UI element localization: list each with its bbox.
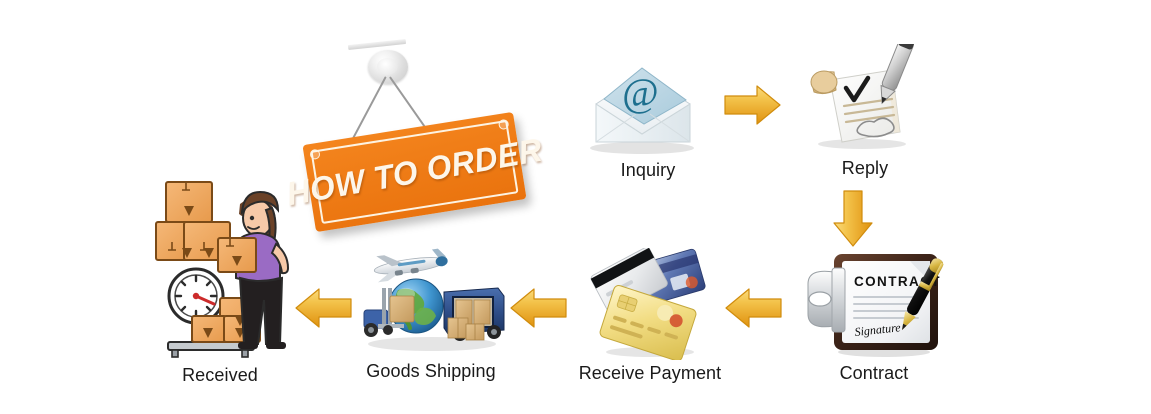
- reply-icon: [800, 44, 930, 154]
- how-to-order-sign: HOW TO ORDER: [302, 112, 526, 232]
- inquiry-icon: @: [578, 52, 718, 157]
- globe-plane-truck-icon: [348, 244, 516, 356]
- step-label-reply: Reply: [800, 159, 930, 177]
- sign-text: HOW TO ORDER: [306, 111, 523, 233]
- arrow-payment-to-shipping: [507, 285, 569, 336]
- step-label-received: Received: [140, 366, 300, 384]
- envelope-at-icon: @: [578, 52, 718, 157]
- contract-clipboard-icon: CONTRACT Signature: [800, 248, 948, 358]
- received-icon: [152, 174, 292, 360]
- arrow-left-icon: [292, 285, 354, 331]
- hook-mount-icon: [368, 50, 408, 84]
- receive-payment-icon: [580, 248, 720, 360]
- credit-cards-icon: [580, 248, 720, 360]
- arrow-left-icon: [722, 285, 784, 331]
- arrow-inquiry-to-reply: [722, 82, 784, 133]
- step-label-goods-shipping: Goods Shipping: [345, 362, 517, 380]
- arrow-down-icon: [830, 188, 876, 250]
- arrow-contract-to-payment: [722, 285, 784, 336]
- contract-icon: CONTRACT Signature: [800, 248, 948, 358]
- arrow-left-icon: [507, 285, 569, 331]
- svg-text:@: @: [621, 69, 660, 116]
- arrow-right-icon: [722, 82, 784, 128]
- step-label-receive-payment: Receive Payment: [570, 364, 730, 382]
- goods-shipping-icon: [348, 244, 516, 356]
- arrow-reply-to-contract: [830, 188, 876, 255]
- scroll-pen-icon: [800, 44, 930, 154]
- warehouse-worker-icon: [152, 174, 292, 360]
- arrow-shipping-to-received: [292, 285, 354, 336]
- step-label-inquiry: Inquiry: [578, 161, 718, 179]
- step-label-contract: Contract: [800, 364, 948, 382]
- how-to-order-diagram: HOW TO ORDER: [0, 0, 1151, 414]
- ceiling-bracket-icon: [348, 39, 406, 50]
- how-to-order-sign-group: HOW TO ORDER: [300, 36, 550, 236]
